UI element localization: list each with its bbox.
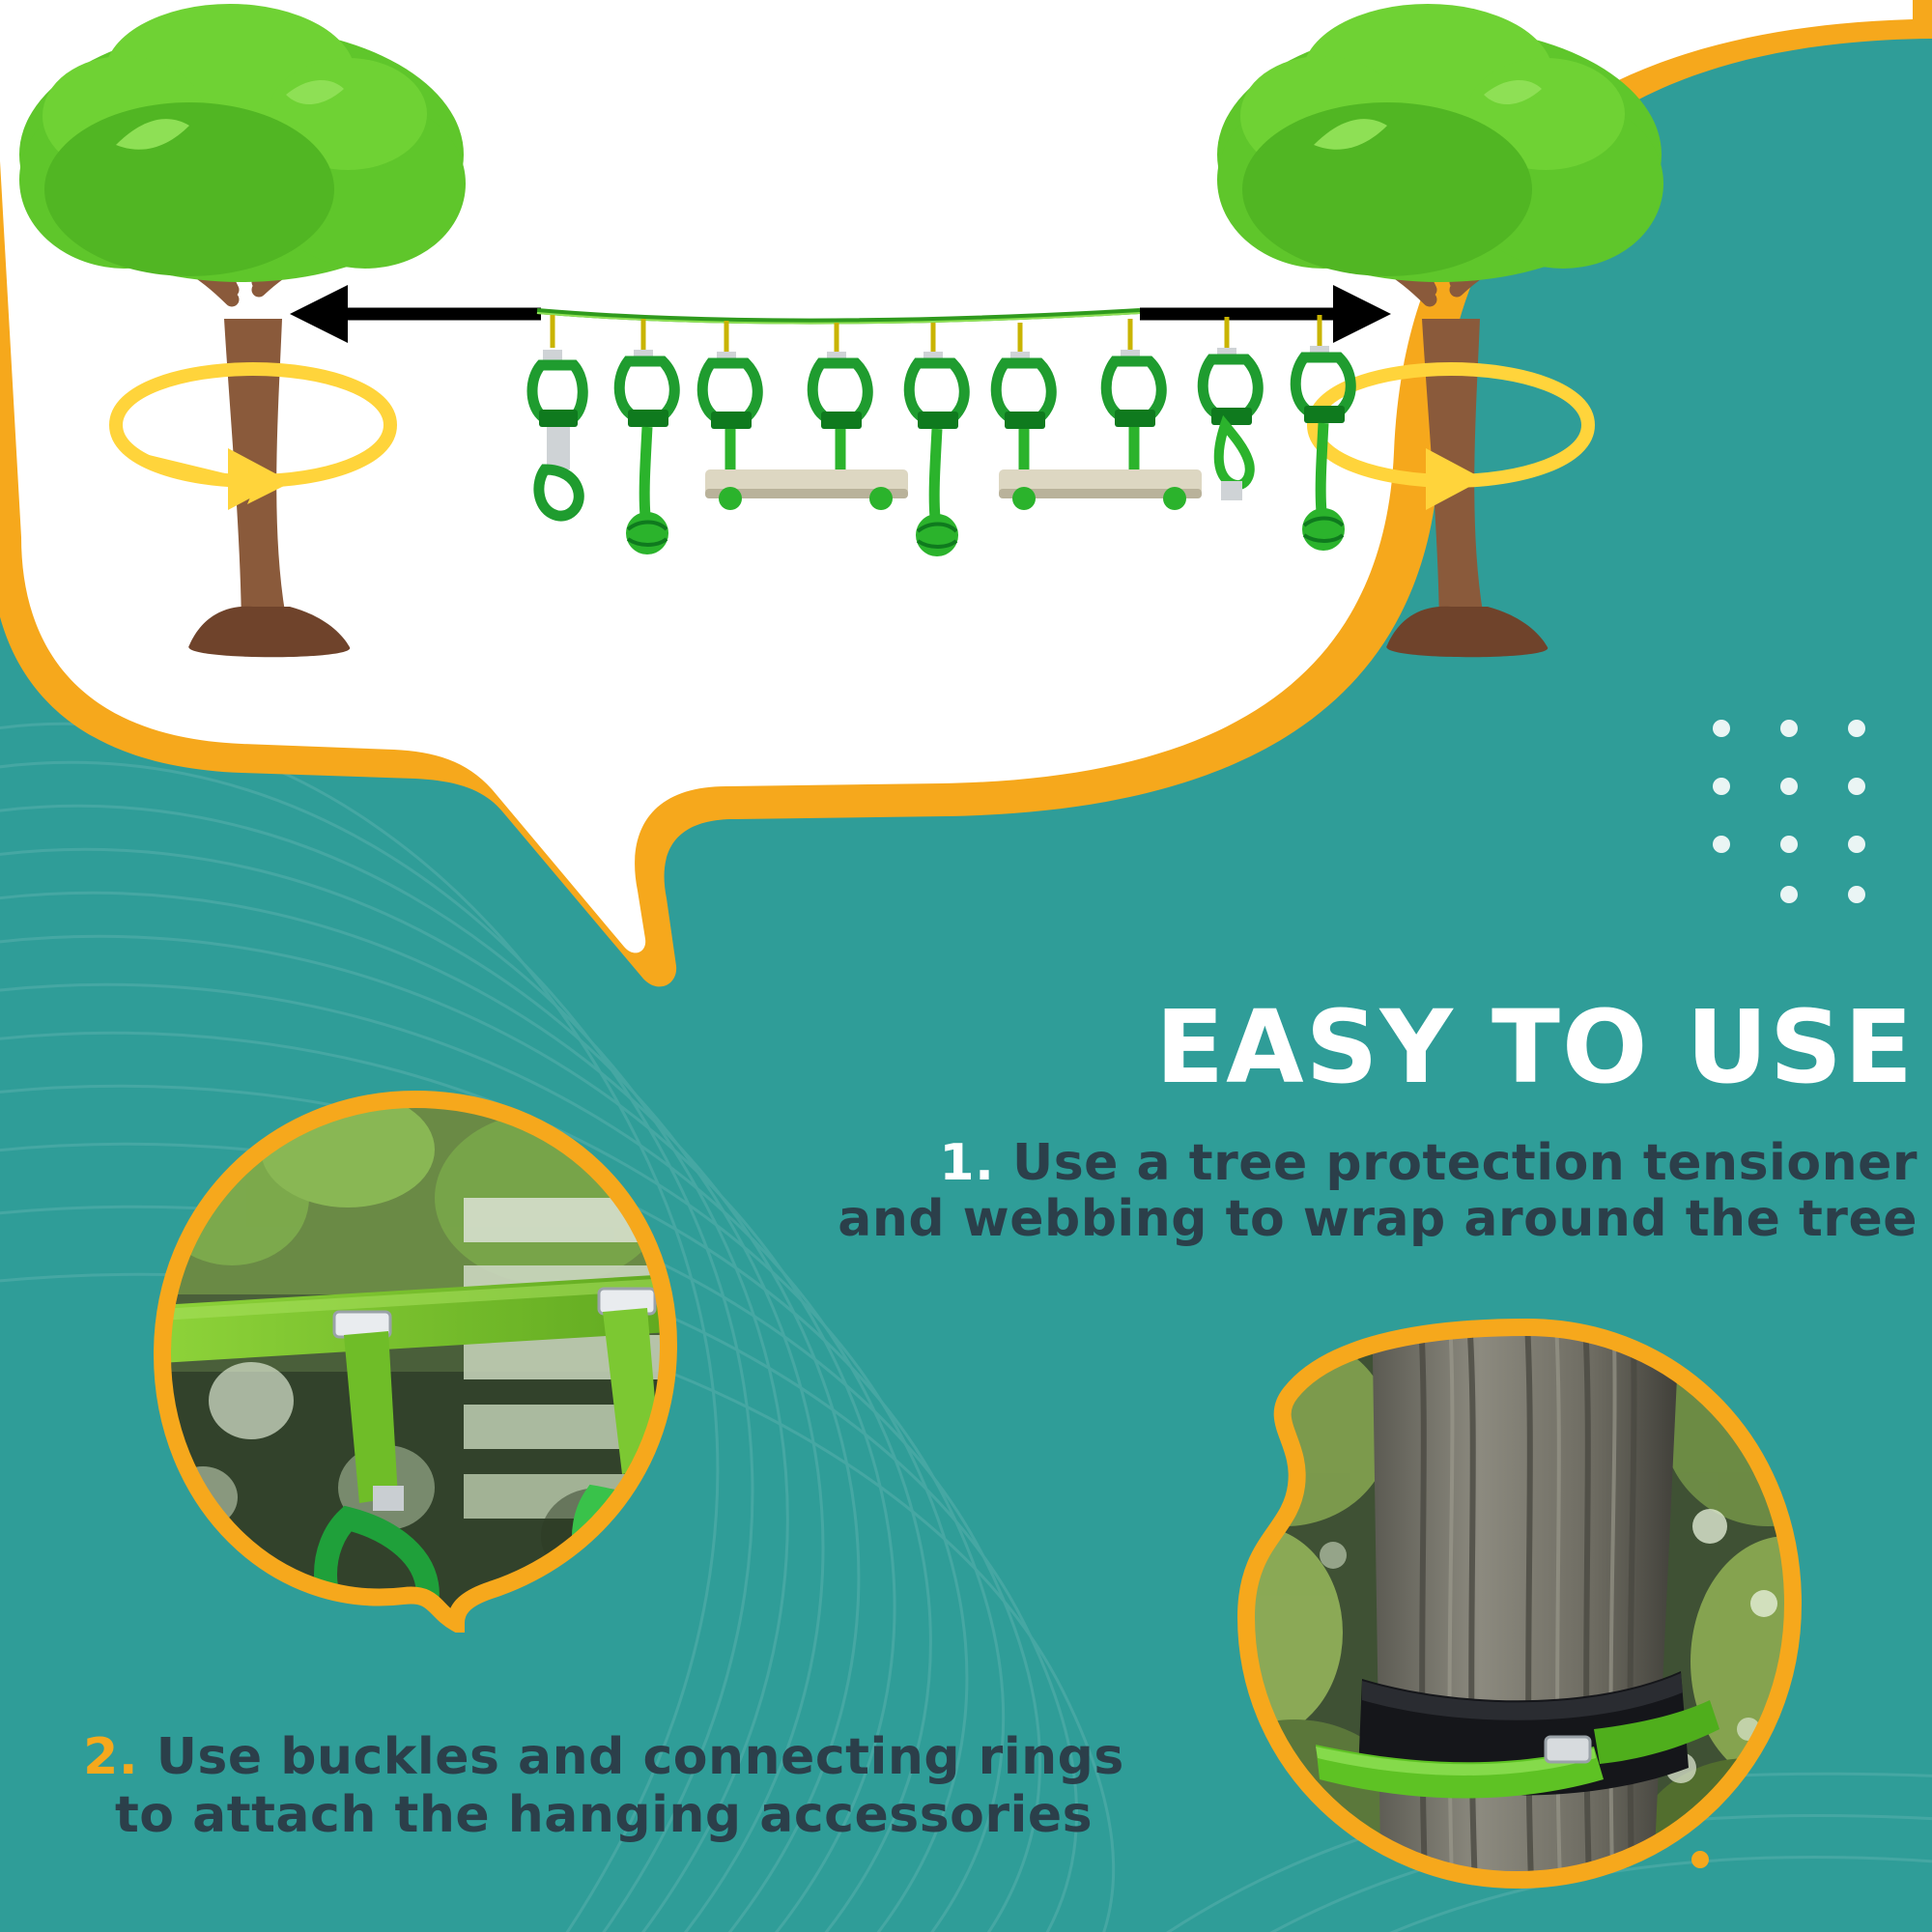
right-tree (1217, 4, 1663, 657)
step-2-text: 2. Use buckles and connecting rings to a… (58, 1729, 1150, 1845)
step-1-text: 1. Use a tree protection tensioner and w… (734, 1135, 1918, 1247)
accessory-rope-knot-ball-2 (909, 323, 964, 556)
webbing-buckle-closeup (145, 1082, 686, 1633)
slackline-webbing (537, 311, 1140, 324)
step-2-line-2: to attach the hanging accessories (115, 1786, 1093, 1844)
accessory-hanging-loop (1203, 317, 1258, 500)
step-1-line-1: Use a tree protection tensioner (1012, 1134, 1918, 1192)
step-2-line-1: Use buckles and connecting rings (156, 1728, 1124, 1786)
arrow-pointing-to-right-tree (1140, 285, 1391, 343)
accessory-plank-swing-2 (996, 319, 1202, 510)
hero-illustration (0, 0, 1700, 734)
step-1-line-2: and webbing to wrap around the tree (838, 1190, 1918, 1248)
arrow-pointing-to-left-tree (290, 285, 541, 343)
page-title: EASY TO USE (804, 997, 1915, 1097)
tree-trunk-strap-closeup (1227, 1314, 1806, 1893)
accessory-plank-swing-1 (702, 321, 908, 510)
accessory-rope-knot-ball-3 (1295, 315, 1350, 551)
accessory-rope-knot-ball-1 (619, 319, 674, 554)
step-2-number: 2. (83, 1728, 138, 1786)
step-1-number: 1. (939, 1134, 994, 1192)
accessory-ladder-rung-strap (532, 315, 582, 516)
left-tree (19, 4, 466, 657)
